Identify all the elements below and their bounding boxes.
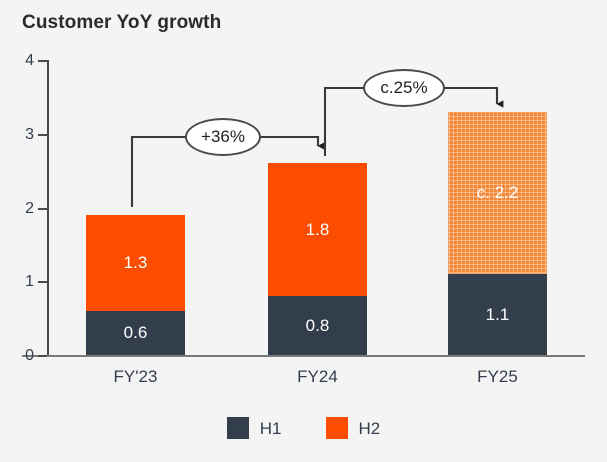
bar-label-h1-fy24: 0.8 <box>306 317 330 334</box>
y-tick-label-0: 0 <box>8 347 34 365</box>
bar-segment-h2-fy23[interactable]: 1.3 <box>86 215 185 311</box>
y-tick-mark-2 <box>38 208 47 210</box>
bar-group-fy23[interactable]: 1.3 0.6 <box>86 215 185 355</box>
bar-label-h2-fy25: c. 2.2 <box>477 184 519 201</box>
bar-label-h2-fy24: 1.8 <box>306 221 330 238</box>
x-axis-label-fy23: FY'23 <box>86 367 185 387</box>
bar-label-h2-fy23: 1.3 <box>124 254 148 271</box>
x-axis-line <box>22 355 585 357</box>
x-axis-label-fy24: FY24 <box>268 367 367 387</box>
chart-legend: H1 H2 <box>0 417 607 439</box>
y-tick-label-3: 3 <box>8 126 34 144</box>
legend-item-h2[interactable]: H2 <box>326 417 381 439</box>
plot-area: 4 3 2 1 0 1.3 0.6 1.8 0 <box>0 0 607 462</box>
bar-group-fy24[interactable]: 1.8 0.8 <box>268 163 367 355</box>
legend-label-h2: H2 <box>359 420 381 437</box>
bar-segment-h1-fy25[interactable]: 1.1 <box>448 274 547 355</box>
y-axis-line <box>47 60 49 356</box>
y-tick-mark-0 <box>38 355 47 357</box>
legend-label-h1: H1 <box>260 420 282 437</box>
bar-group-fy25[interactable]: c. 2.2 1.1 <box>448 112 547 355</box>
y-tick-mark-4 <box>38 60 47 62</box>
y-tick-label-1: 1 <box>8 273 34 291</box>
x-axis-label-fy25: FY25 <box>448 367 547 387</box>
legend-swatch-h2 <box>326 417 348 439</box>
y-tick-mark-3 <box>38 134 47 136</box>
bar-label-h1-fy23: 0.6 <box>124 324 148 341</box>
chart-container: Customer YoY growth 4 3 2 1 0 1.3 <box>0 0 607 462</box>
bar-segment-h1-fy23[interactable]: 0.6 <box>86 311 185 355</box>
y-tick-mark-1 <box>38 281 47 283</box>
bar-segment-h1-fy24[interactable]: 0.8 <box>268 296 367 355</box>
bar-label-h1-fy25: 1.1 <box>486 306 510 323</box>
bar-segment-h2-fy25[interactable]: c. 2.2 <box>448 112 547 274</box>
y-tick-label-2: 2 <box>8 200 34 218</box>
legend-item-h1[interactable]: H1 <box>227 417 282 439</box>
bar-segment-h2-fy24[interactable]: 1.8 <box>268 163 367 296</box>
legend-swatch-h1 <box>227 417 249 439</box>
y-tick-label-4: 4 <box>8 52 34 70</box>
